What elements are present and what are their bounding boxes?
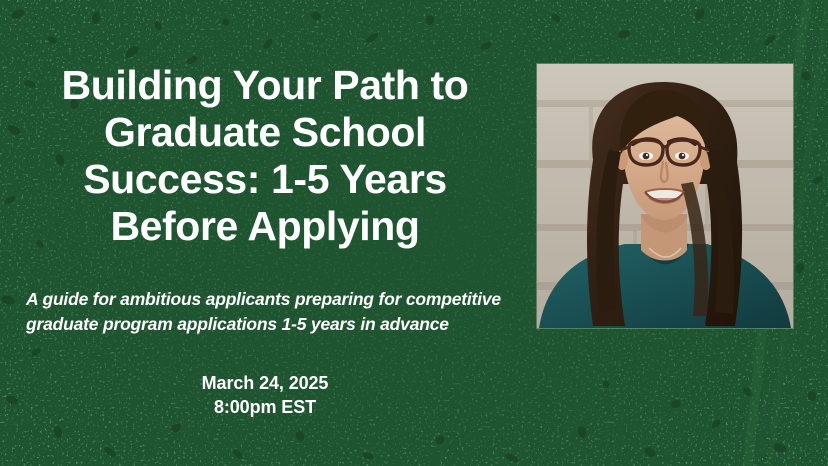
event-promo-slide: Building Your Path to Graduate School Su… [0, 0, 828, 466]
event-date: March 24, 2025 [0, 371, 530, 395]
subtitle-line-1: A guide for ambitious applicants prepari… [26, 289, 501, 309]
subtitle: A guide for ambitious applicants prepari… [26, 287, 518, 337]
title-line-3: Success: 1-5 Years [83, 156, 447, 202]
text-column: Building Your Path to Graduate School Su… [0, 0, 530, 466]
title-line-2: Graduate School [104, 109, 426, 155]
title-line-1: Building Your Path to [62, 62, 469, 108]
speaker-headshot-photo [537, 64, 793, 328]
subtitle-line-2: graduate program applications 1-5 years … [26, 314, 449, 334]
event-time: 8:00pm EST [0, 395, 530, 419]
page-title: Building Your Path to Graduate School Su… [0, 62, 530, 250]
title-line-4: Before Applying [110, 203, 419, 249]
event-datetime: March 24, 2025 8:00pm EST [0, 371, 530, 419]
